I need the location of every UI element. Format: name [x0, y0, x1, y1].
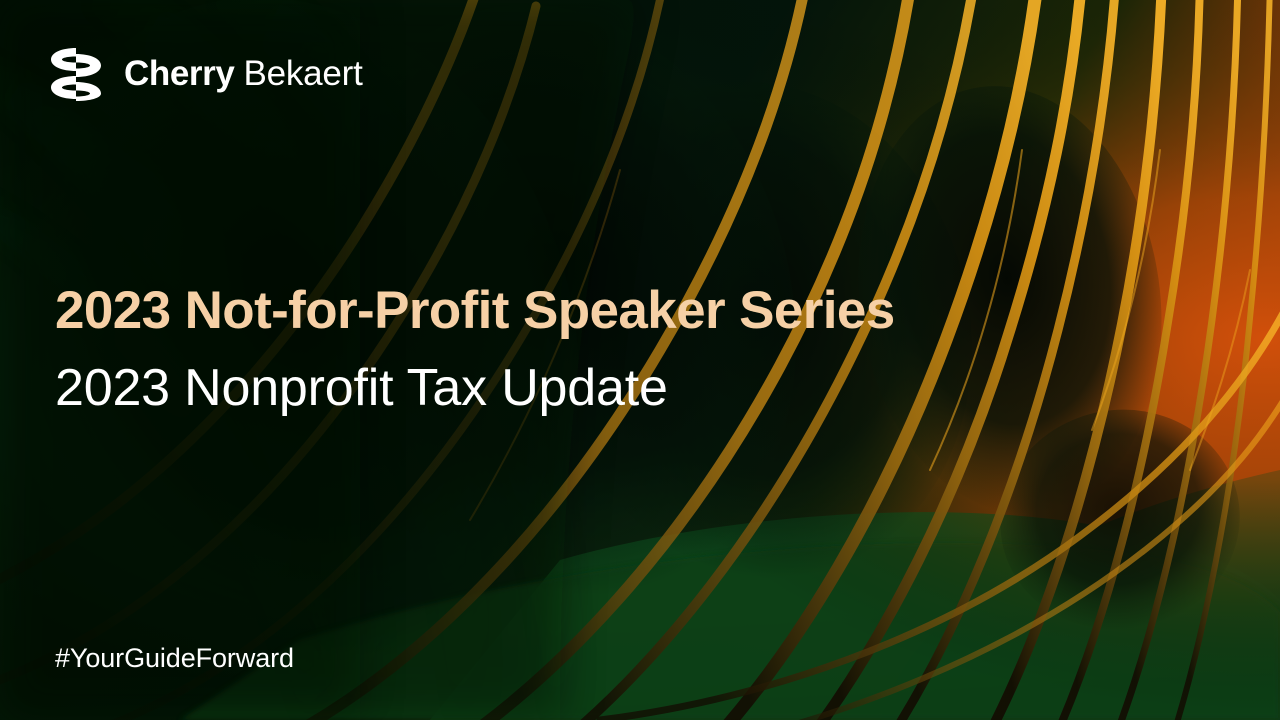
wordmark-bekaert: Bekaert — [243, 56, 362, 91]
brand-logo-lockup: Cherry Bekaert — [46, 46, 363, 101]
slide-title: 2023 Not-for-Profit Speaker Series — [55, 283, 895, 339]
slide-subtitle: 2023 Nonprofit Tax Update — [55, 361, 895, 416]
title-slide: Cherry Bekaert 2023 Not-for-Profit Speak… — [0, 0, 1280, 720]
headline-block: 2023 Not-for-Profit Speaker Series 2023 … — [55, 283, 895, 416]
cherry-bekaert-mark-icon — [46, 46, 106, 101]
hashtag-tagline: #YourGuideForward — [55, 645, 294, 672]
wordmark-cherry: Cherry — [124, 56, 234, 91]
brand-wordmark: Cherry Bekaert — [124, 56, 363, 91]
